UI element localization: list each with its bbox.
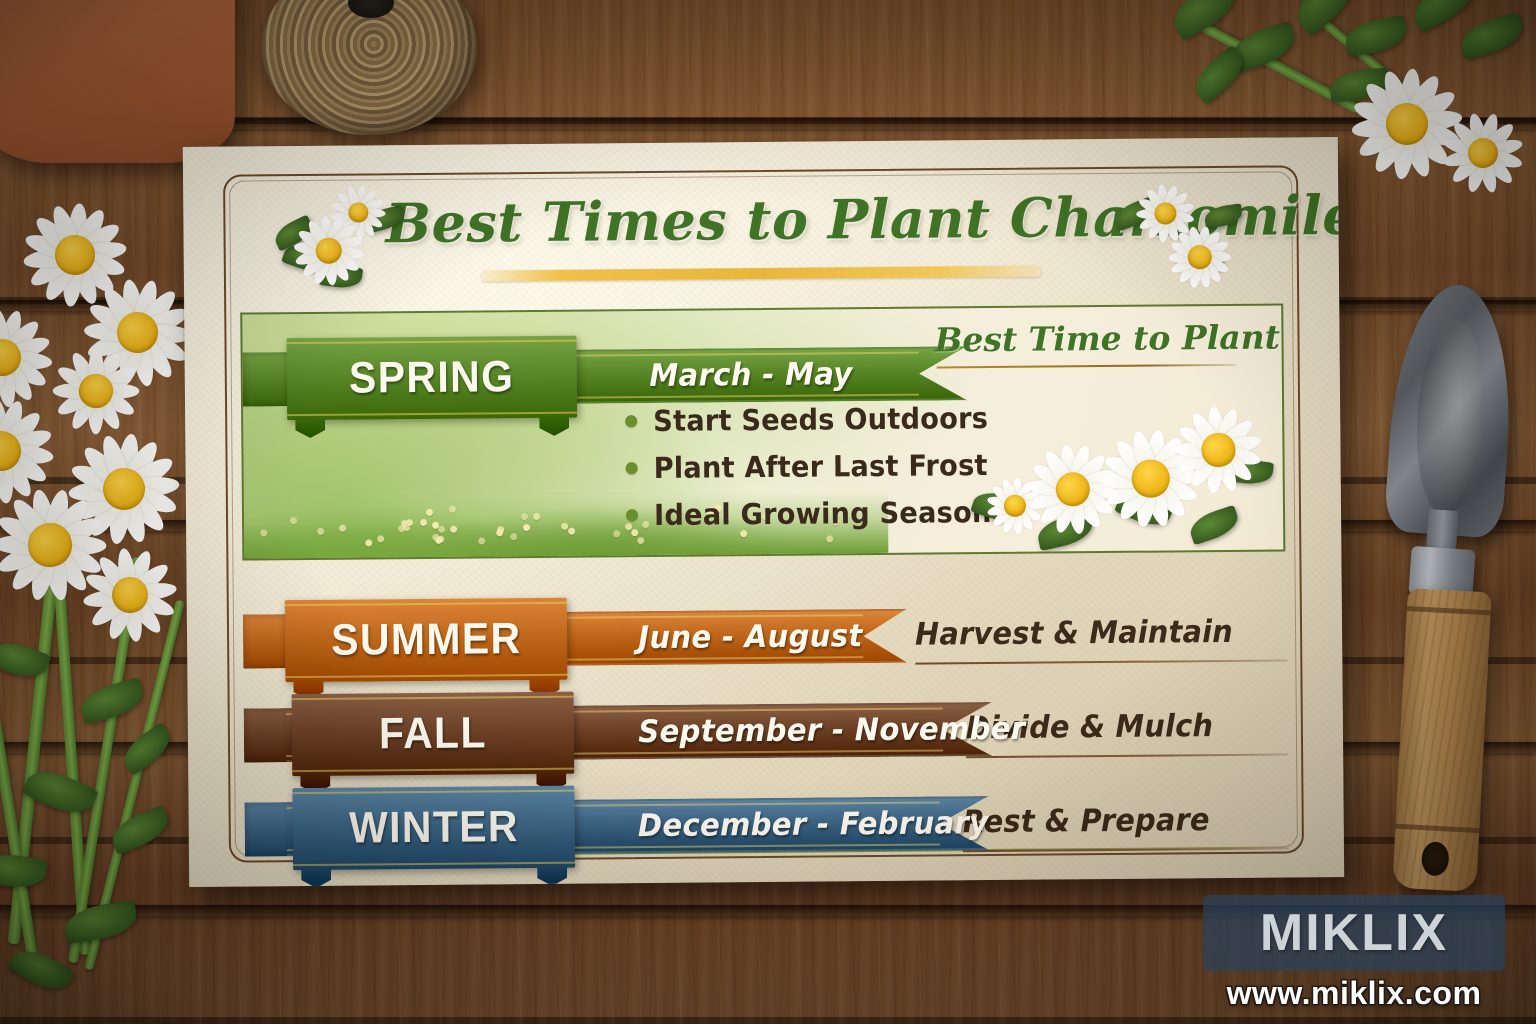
page-title: Best Times to Plant Chamomile	[385, 185, 1137, 256]
season-note-rule	[915, 659, 1287, 664]
bullet-dot-icon	[626, 509, 638, 521]
ribbon-fold-tab	[537, 866, 567, 886]
ribbon-plaque: FALL	[292, 692, 575, 776]
spring-bullet-list: Start Seeds OutdoorsPlant After Last Fro…	[625, 394, 1013, 538]
watermark-box: MIKLIX	[1203, 895, 1505, 971]
season-months-label: March - May	[649, 347, 853, 403]
trowel-handle-hole	[1421, 841, 1450, 876]
ribbon-plaque: SUMMER	[285, 598, 568, 682]
title-underline-rule	[482, 266, 1041, 282]
season-months-label: September - November	[638, 702, 1026, 759]
ribbon-plaque: SPRING	[286, 336, 577, 421]
season-name-label: WINTER	[349, 802, 519, 853]
title-daisy-cluster-left	[273, 187, 434, 308]
season-name-label: SPRING	[349, 352, 515, 403]
leaf-icon	[1406, 0, 1482, 33]
terracotta-pot	[0, 0, 235, 163]
spring-daisy-decoration	[966, 400, 1277, 553]
daisy-flower-icon	[1168, 399, 1270, 501]
leaf-icon	[1166, 0, 1245, 41]
ribbon-left-fold	[245, 802, 291, 856]
season-months-label: December - February	[638, 796, 989, 853]
ribbon-left-fold	[243, 614, 289, 668]
season-note-label: Harvest & Maintain	[915, 614, 1233, 653]
season-note-label: Rest & Prepare	[963, 802, 1210, 840]
season-panel-spring: SPRINGMarch - May Best Time to Plant! St…	[240, 303, 1285, 560]
daisy-flower-icon	[288, 210, 370, 292]
leaf-icon	[1343, 15, 1410, 57]
spring-highlight-text: Best Time to Plant!	[934, 317, 1285, 359]
brand-url: www.miklix.com	[1203, 975, 1505, 1012]
list-item: Plant After Last Frost	[625, 441, 1012, 491]
bullet-label: Plant After Last Frost	[653, 448, 987, 485]
title-daisy-cluster-right	[1108, 180, 1259, 301]
ribbon-plaque: WINTER	[292, 786, 575, 870]
bullet-label: Start Seeds Outdoors	[653, 401, 988, 438]
daisy-flower-icon	[1161, 218, 1239, 296]
ribbon-fold-tab	[295, 418, 325, 438]
leaf-icon	[0, 850, 48, 893]
title-area: Best Times to Plant Chamomile	[245, 182, 1277, 309]
season-name-label: SUMMER	[331, 614, 522, 666]
season-ribbon-winter[interactable]: WINTERDecember - FebruaryRest & Prepare	[244, 771, 1288, 882]
leaf-icon	[1457, 12, 1527, 60]
list-item: Ideal Growing Season	[626, 488, 1013, 538]
ribbon-left-fold	[244, 708, 290, 762]
wooden-table-background: Best Times to Plant Chamomile SPRINGMarc…	[0, 0, 1536, 1024]
ribbon-left-fold	[243, 352, 291, 406]
leaf-icon	[63, 900, 139, 944]
season-name-label: FALL	[379, 708, 487, 759]
planting-guide-poster: Best Times to Plant Chamomile SPRINGMarc…	[183, 137, 1344, 887]
brand-name: MIKLIX	[1260, 903, 1448, 963]
season-note-rule	[963, 847, 1289, 852]
bullet-dot-icon	[625, 415, 637, 427]
watermark: MIKLIX www.miklix.com	[1203, 895, 1523, 1012]
trowel-handle	[1392, 588, 1492, 892]
twine-core	[348, 0, 394, 18]
bullet-dot-icon	[626, 462, 638, 474]
season-months-label: June - August	[638, 609, 863, 665]
bullet-label: Ideal Growing Season	[654, 495, 992, 532]
ribbon-fold-tab	[301, 868, 331, 887]
leaf-icon	[107, 805, 174, 855]
ribbon-fold-tab	[539, 416, 569, 436]
